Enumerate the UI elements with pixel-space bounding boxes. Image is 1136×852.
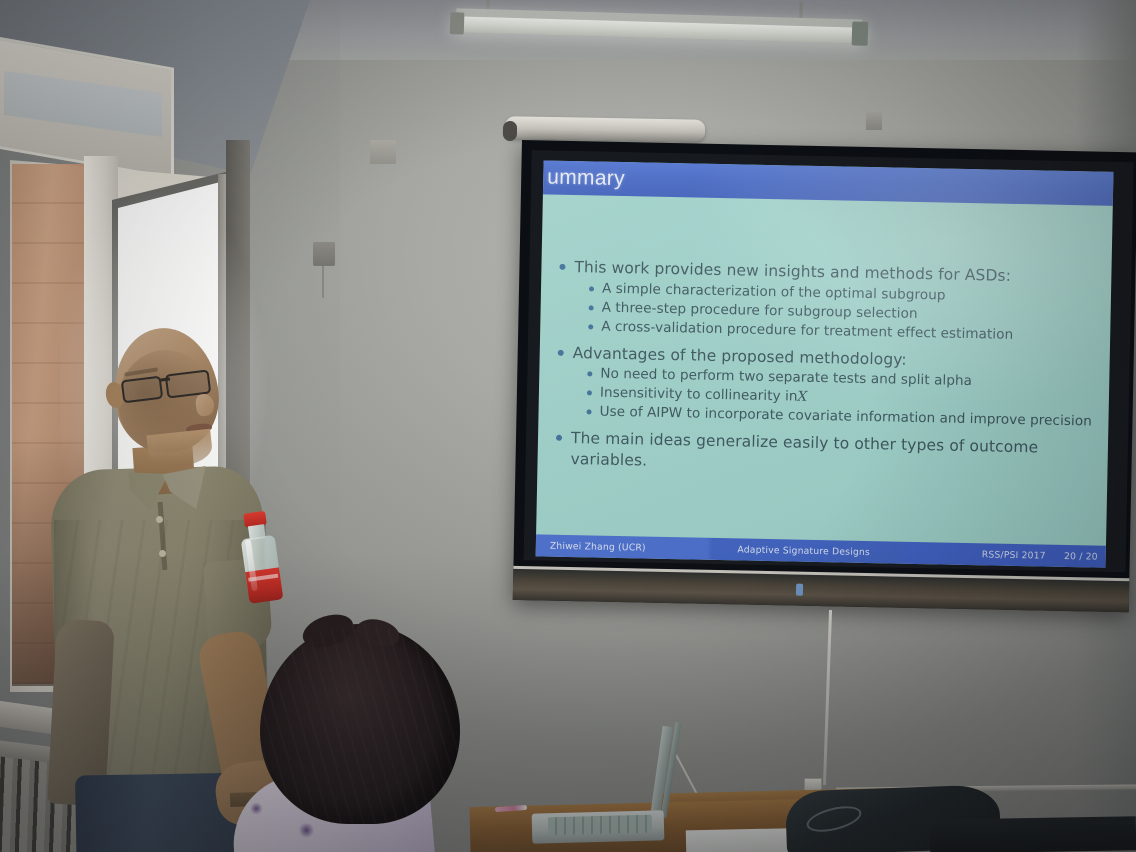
projector-screen-roller-cap bbox=[503, 121, 517, 141]
ceiling-hook bbox=[866, 112, 882, 130]
bullet-dot-icon bbox=[589, 286, 594, 291]
light-end-cap-right bbox=[852, 21, 869, 45]
bullet-dot-icon bbox=[559, 264, 565, 270]
slide-content: This work provides new insights and meth… bbox=[536, 194, 1113, 545]
math-variable-x: X bbox=[797, 389, 807, 407]
presentation-slide[interactable]: ummary This work provides new insights a… bbox=[536, 160, 1114, 567]
bullet-dot-icon bbox=[589, 305, 594, 310]
bullet-dot-icon bbox=[587, 372, 592, 377]
slide-title: ummary bbox=[547, 166, 625, 192]
light-end-cap-left bbox=[450, 12, 465, 34]
wall-outlet-upper bbox=[313, 242, 335, 266]
wall-plate-upper bbox=[370, 140, 396, 164]
bullet-dot-icon bbox=[587, 410, 592, 415]
glasses-lens-left bbox=[121, 376, 164, 404]
wall-outlet-cord bbox=[322, 266, 324, 298]
bullet-dot-icon bbox=[556, 435, 562, 441]
bullet-dot-icon bbox=[587, 391, 592, 396]
bullet-dot-icon bbox=[588, 324, 593, 329]
bullet-dot-icon bbox=[558, 349, 564, 355]
floor-shadow bbox=[0, 552, 1136, 852]
projector-screen-roller[interactable] bbox=[505, 116, 705, 141]
photo-scene: ummary This work provides new insights a… bbox=[0, 0, 1136, 852]
polo-button bbox=[156, 516, 163, 523]
projector-screen[interactable]: ummary This work provides new insights a… bbox=[513, 140, 1136, 612]
